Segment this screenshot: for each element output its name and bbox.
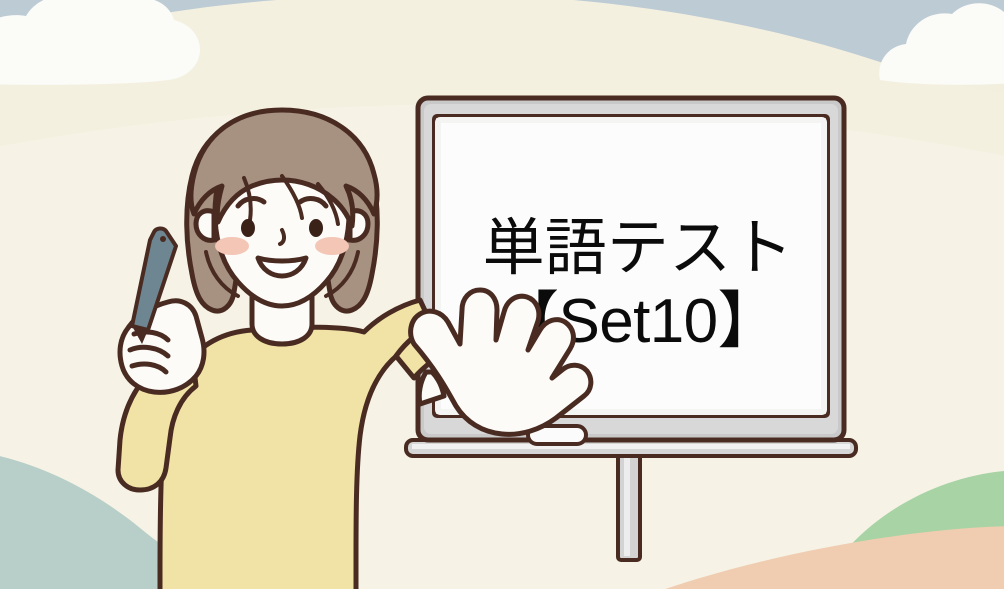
cheek-right [315, 237, 349, 255]
cheek-left [215, 237, 249, 255]
waving-hand [411, 290, 591, 434]
eye-right [309, 219, 323, 237]
illustration-canvas: 単語テスト 【Set10】 [0, 0, 1004, 589]
eye-left [241, 219, 255, 237]
teacher-illustration [0, 0, 1004, 589]
